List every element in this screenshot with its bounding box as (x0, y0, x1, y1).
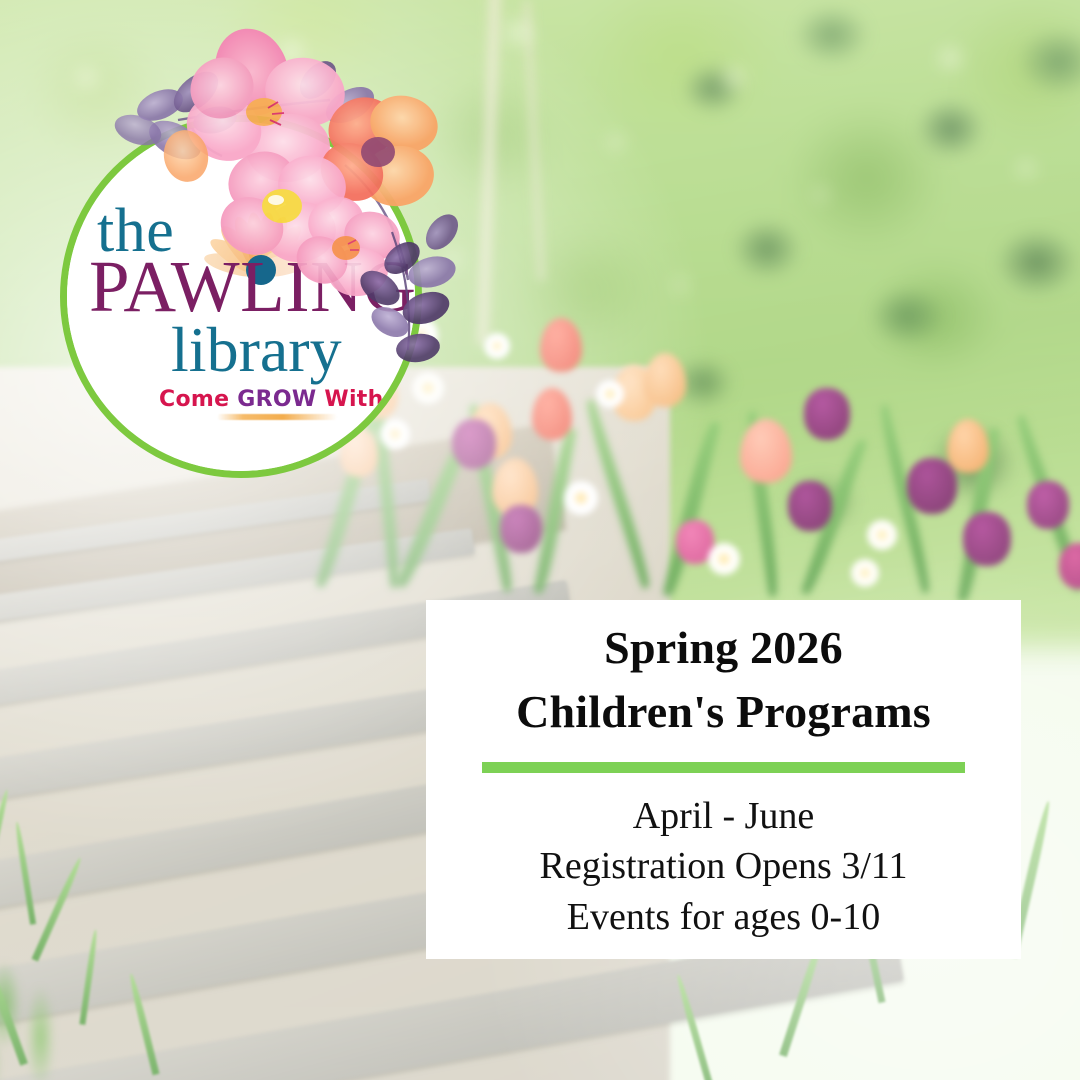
event-info-panel: Spring 2026 Children's Programs April - … (426, 600, 1021, 959)
logo-word-pawling: PAWLING (89, 250, 415, 323)
tagline-grow: GROW (237, 387, 316, 412)
tagline-underline-swoosh (217, 414, 337, 420)
logo-tagline: Come GROW With Us (159, 387, 389, 412)
green-divider (482, 762, 965, 773)
detail-registration: Registration Opens 3/11 (540, 841, 908, 891)
panel-title-line2: Children's Programs (516, 684, 931, 740)
library-logo[interactable]: the PAWLING library Come GROW With Us (60, 115, 422, 478)
logo-word-library: library (171, 318, 342, 382)
panel-title-line1: Spring 2026 (604, 620, 843, 676)
detail-ages: Events for ages 0-10 (540, 892, 908, 942)
logo-circle-inner: the PAWLING library Come GROW With Us (67, 122, 415, 471)
poster-canvas: the PAWLING library Come GROW With Us (0, 0, 1080, 1080)
panel-details: April - June Registration Opens 3/11 Eve… (540, 791, 908, 941)
tagline-with-us: With Us (316, 387, 415, 412)
detail-date-range: April - June (540, 791, 908, 841)
tagline-come: Come (159, 387, 237, 412)
